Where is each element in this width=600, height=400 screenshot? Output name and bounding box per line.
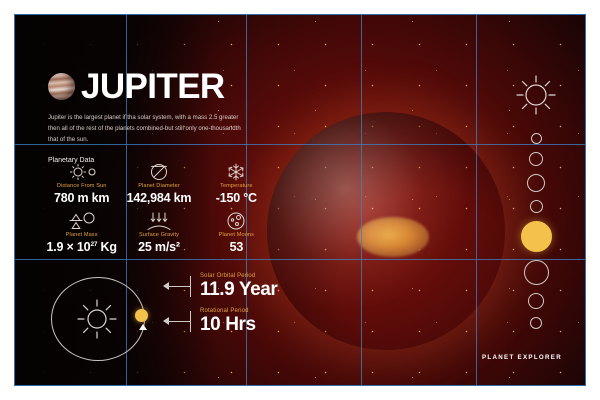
planet-shading — [267, 112, 505, 350]
stat-surface-gravity: Surface Gravity 25 m/s² — [120, 211, 197, 254]
brand-logo: PLANET EXPLORER — [482, 354, 562, 361]
scale-planet-neptune — [530, 317, 542, 329]
stat-label: Distance From Sun — [43, 183, 120, 189]
stat-planet-mass: Planet Mass 1.9 × 1027 Kg — [43, 211, 120, 254]
mass-base: 1.9 × 10 — [47, 240, 91, 254]
stat-label: Planet Diameter — [120, 183, 197, 189]
scale-planet-saturn — [524, 260, 549, 285]
sun-distance-icon — [43, 162, 120, 182]
header-block: JUPITER Jupiter is the largest planet if… — [48, 69, 273, 164]
orbit-direction-marker — [139, 324, 147, 330]
planetary-data-grid: Distance From Sun 780 m km Planet Diamet… — [43, 162, 275, 254]
scale-planet-uranus — [528, 293, 544, 309]
stat-label: Surface Gravity — [120, 232, 197, 238]
stat-value: 142,984 km — [120, 191, 197, 205]
period-solar-orbital: Solar Orbital Period 11.9 Year — [163, 273, 277, 300]
period-value: 10 Hrs — [200, 314, 256, 335]
mass-scale-icon — [43, 211, 120, 231]
left-arrow-icon — [163, 274, 193, 300]
period-rotational: Rotational Period 10 Hrs — [163, 308, 277, 335]
solar-system-scale-column — [509, 73, 563, 333]
stat-value: -150 °C — [198, 191, 275, 205]
sun-icon — [76, 298, 118, 340]
jupiter-planet-image — [267, 112, 505, 350]
scale-planet-earth — [527, 174, 545, 192]
stat-distance-from-sun: Distance From Sun 780 m km — [43, 162, 120, 205]
period-list: Solar Orbital Period 11.9 Year Rotationa… — [163, 273, 277, 344]
description-text: Jupiter is the largest planet if tha sol… — [48, 113, 251, 146]
stat-label: Planet Mass — [43, 232, 120, 238]
stat-value: 53 — [198, 240, 275, 254]
period-value: 11.9 Year — [200, 279, 277, 300]
gravity-arrows-icon — [120, 211, 197, 231]
scale-planet-mars — [530, 200, 543, 213]
orbit-diagram — [43, 271, 161, 366]
stat-value: 25 m/s² — [120, 240, 197, 254]
sun-icon — [514, 73, 558, 117]
moons-icon — [198, 211, 275, 231]
stat-value: 1.9 × 1027 Kg — [43, 240, 120, 254]
stat-planet-diameter: Planet Diameter 142,984 km — [120, 162, 197, 205]
snowflake-icon — [198, 162, 275, 182]
mass-unit: Kg — [97, 240, 117, 254]
left-arrow-icon — [163, 309, 193, 335]
scale-planet-mercury — [531, 133, 542, 144]
page-title: JUPITER — [81, 69, 225, 104]
scale-planet-jupiter — [521, 221, 552, 252]
stat-value: 780 m km — [43, 191, 120, 205]
planet-diameter-icon — [120, 162, 197, 182]
scale-planet-venus — [529, 152, 543, 166]
stat-temperature: Temperature -150 °C — [198, 162, 275, 205]
stat-label: Temperature — [198, 183, 275, 189]
title-row: JUPITER — [48, 69, 273, 104]
orbiting-planet-dot — [135, 309, 148, 322]
infographic-poster: JUPITER Jupiter is the largest planet if… — [14, 14, 586, 386]
stat-label: Planet Moons — [198, 232, 275, 238]
stat-planet-moons: Planet Moons 53 — [198, 211, 275, 254]
jupiter-badge-icon — [48, 73, 75, 100]
